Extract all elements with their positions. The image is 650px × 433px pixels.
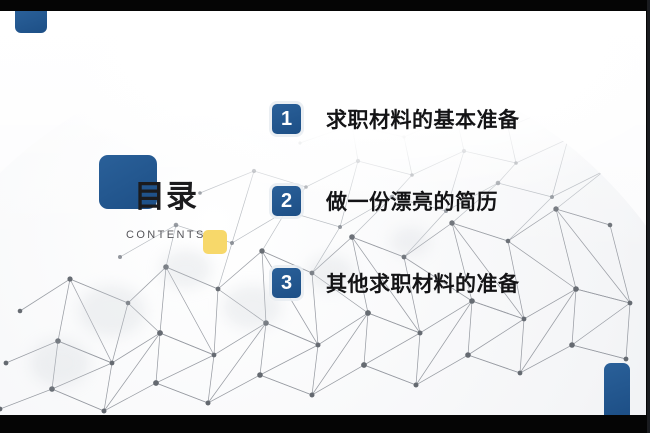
- agenda-label-1: 求职材料的基本准备: [326, 104, 520, 134]
- blue-tab-top-left-decoration: [15, 11, 47, 33]
- page-title: 目录: [134, 182, 198, 213]
- page-subtitle: CONTENTS: [126, 229, 206, 241]
- agenda-item-2[interactable]: 2 做一份漂亮的简历: [272, 181, 498, 221]
- agenda-label-3: 其他求职材料的准备: [326, 268, 520, 298]
- contents-yellow-square-decoration: [203, 230, 227, 254]
- agenda-item-1[interactable]: 1 求职材料的基本准备: [272, 99, 520, 139]
- agenda-number-badge-1: 1: [272, 104, 301, 134]
- agenda-number-badge-3: 3: [272, 268, 301, 298]
- agenda-number-badge-2: 2: [272, 186, 301, 216]
- blue-tab-bottom-right-decoration: [604, 363, 630, 415]
- agenda-item-3[interactable]: 3 其他求职材料的准备: [272, 263, 520, 303]
- agenda-label-2: 做一份漂亮的简历: [326, 186, 498, 216]
- contents-heading-block: 目录 CONTENTS: [99, 155, 259, 270]
- slide-photo-frame: 目录 CONTENTS 1 求职材料的基本准备 2 做一份漂亮的简历 3 其他求…: [0, 0, 650, 433]
- presentation-slide: 目录 CONTENTS 1 求职材料的基本准备 2 做一份漂亮的简历 3 其他求…: [0, 11, 646, 415]
